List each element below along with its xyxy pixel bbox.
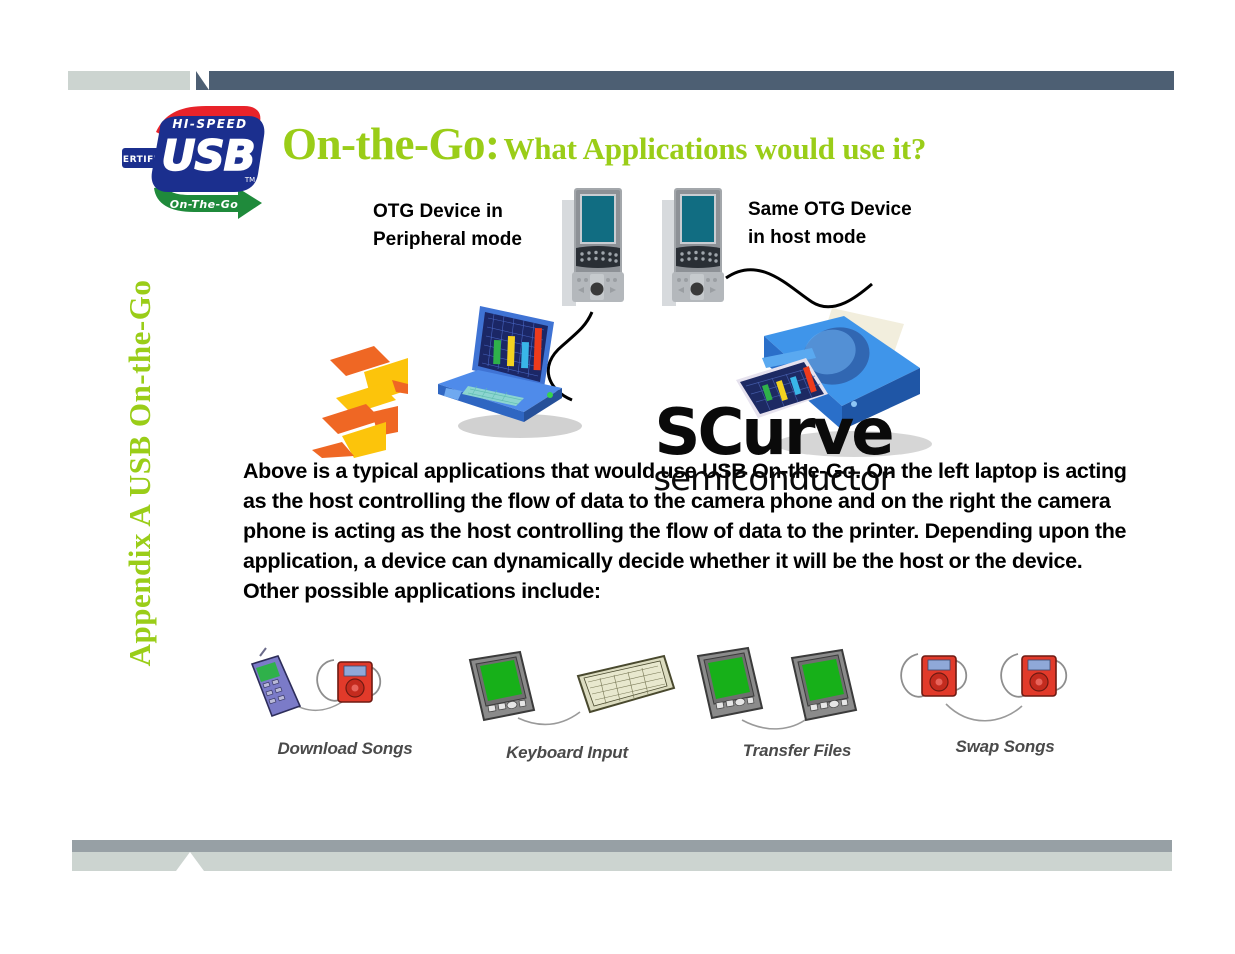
svg-text:USB: USB <box>161 131 254 180</box>
application-caption: Transfer Files <box>682 741 912 761</box>
footer-bar-dark <box>72 840 1172 852</box>
two-mp3-players-icon <box>890 638 1120 733</box>
callout-peripheral-line1: OTG Device in <box>373 198 522 226</box>
slide-canvas: Appendix A USB On-the-Go CERTIFIED HI-SP… <box>0 0 1235 954</box>
header-left-notch <box>176 71 190 90</box>
application-item: Swap Songs <box>890 638 1120 757</box>
svg-text:HI-SPEED: HI-SPEED <box>172 117 247 131</box>
footer-bar-light <box>72 852 1172 871</box>
callout-host-line1: Same OTG Device <box>748 196 912 224</box>
pda-and-keyboard-icon <box>452 644 682 739</box>
application-caption: Keyboard Input <box>452 743 682 763</box>
diamonds-decoration-icon <box>312 332 424 458</box>
printer-illustration <box>724 302 944 462</box>
pda-peripheral-illustration <box>558 186 634 318</box>
application-caption: Download Songs <box>230 739 460 759</box>
page-title: On-the-Go: What Applications would use i… <box>282 118 1162 170</box>
laptop-host-illustration <box>432 300 582 440</box>
application-item: Keyboard Input <box>452 644 682 763</box>
pda-host-illustration <box>658 186 734 318</box>
header-left-block <box>68 71 190 90</box>
page-title-main: On-the-Go: <box>282 119 499 169</box>
two-pdas-icon <box>682 642 912 737</box>
header-bar <box>196 71 1174 90</box>
svg-text:TM: TM <box>244 176 255 184</box>
application-caption: Swap Songs <box>890 737 1120 757</box>
applications-row: Download Songs <box>230 640 1130 780</box>
page-title-sub: What Applications would use it? <box>503 131 926 166</box>
body-paragraph: Above is a typical applications that wou… <box>243 456 1133 606</box>
sidebar-appendix-title: Appendix A USB On-the-Go <box>122 193 158 753</box>
header-bar-notch <box>196 71 209 90</box>
svg-text:On-The-Go: On-The-Go <box>170 198 239 211</box>
usb-on-the-go-logo: CERTIFIED HI-SPEED USB TM On-The-Go <box>120 102 272 220</box>
footer-notch <box>176 852 204 871</box>
application-item: Download Songs <box>230 640 460 759</box>
application-item: Transfer Files <box>682 642 912 761</box>
phone-and-mp3-player-icon <box>230 640 460 735</box>
